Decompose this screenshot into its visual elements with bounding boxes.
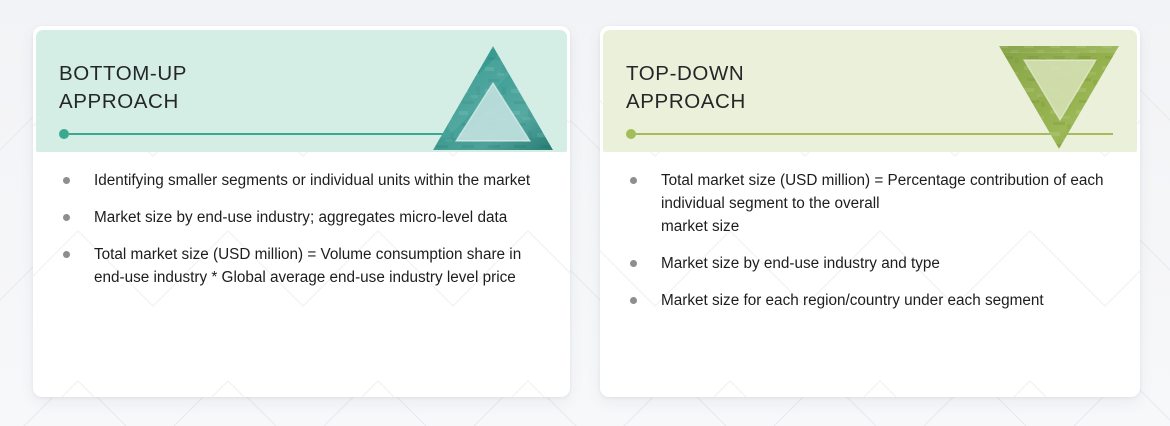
triangle-up-icon xyxy=(431,42,555,152)
list-item: Market size by end-use industry; aggrega… xyxy=(59,206,559,229)
card-title-top-down: TOP-DOWN APPROACH xyxy=(626,60,746,116)
list-item: Market size by end-use industry and type xyxy=(626,252,1132,275)
list-item: Identifying smaller segments or individu… xyxy=(59,169,559,192)
list-item: Total market size (USD million) = Percen… xyxy=(626,169,1132,238)
bullet-list-top-down: Total market size (USD million) = Percen… xyxy=(626,169,1132,312)
approach-card-bottom-up: BOTTOM-UP APPROACH Identifying smaller s… xyxy=(33,26,570,397)
bullet-list-bottom-up: Identifying smaller segments or individu… xyxy=(59,169,559,289)
list-item: Market size for each region/country unde… xyxy=(626,289,1132,312)
accent-dot-icon xyxy=(59,129,69,139)
card-header-bottom-up: BOTTOM-UP APPROACH xyxy=(36,30,567,152)
card-header-top-down: TOP-DOWN APPROACH xyxy=(603,30,1137,152)
approach-card-top-down: TOP-DOWN APPROACH Total market size (USD… xyxy=(600,26,1140,397)
card-title-bottom-up: BOTTOM-UP APPROACH xyxy=(59,60,187,116)
list-item: Total market size (USD million) = Volume… xyxy=(59,243,559,289)
accent-dot-icon xyxy=(626,129,636,139)
triangle-down-icon xyxy=(995,42,1123,152)
